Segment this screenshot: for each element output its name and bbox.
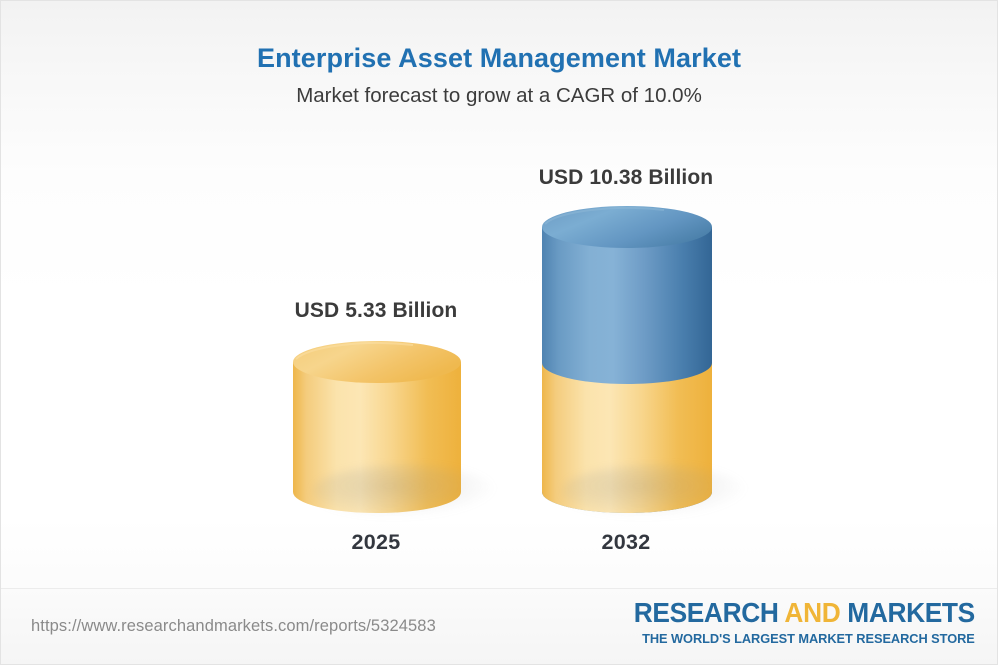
- cylinder-2032: [542, 206, 712, 513]
- bar-value-label-2032: USD 10.38 Billion: [526, 166, 726, 190]
- bar-category-label-2025: 2025: [276, 530, 476, 555]
- brand-tagline: THE WORLD'S LARGEST MARKET RESEARCH STOR…: [623, 630, 975, 647]
- chart-card: Enterprise Asset Management Market Marke…: [0, 0, 998, 665]
- brand-logo: RESEARCH AND MARKETS THE WORLD'S LARGEST…: [612, 597, 975, 647]
- brand-name-part2: AND: [785, 597, 848, 628]
- bar-group-2032: USD 10.38 Billion: [526, 1, 726, 591]
- chart-footer: https://www.researchandmarkets.com/repor…: [1, 588, 997, 664]
- bar-group-2025: USD 5.33 Billion: [276, 1, 476, 591]
- brand-name-part1: RESEARCH: [634, 597, 785, 628]
- brand-name-part3: MARKETS: [847, 597, 975, 628]
- cylinder-2025: [293, 341, 461, 513]
- plot-area: USD 5.33 Billion: [1, 1, 998, 591]
- cylinder-2032-svg: [542, 206, 712, 513]
- bar-category-label-2032: 2032: [526, 530, 726, 555]
- bar-value-label-2025: USD 5.33 Billion: [276, 299, 476, 323]
- brand-name: RESEARCH AND MARKETS: [634, 597, 975, 629]
- cylinder-2025-svg: [293, 341, 461, 513]
- source-url-link[interactable]: https://www.researchandmarkets.com/repor…: [31, 617, 436, 636]
